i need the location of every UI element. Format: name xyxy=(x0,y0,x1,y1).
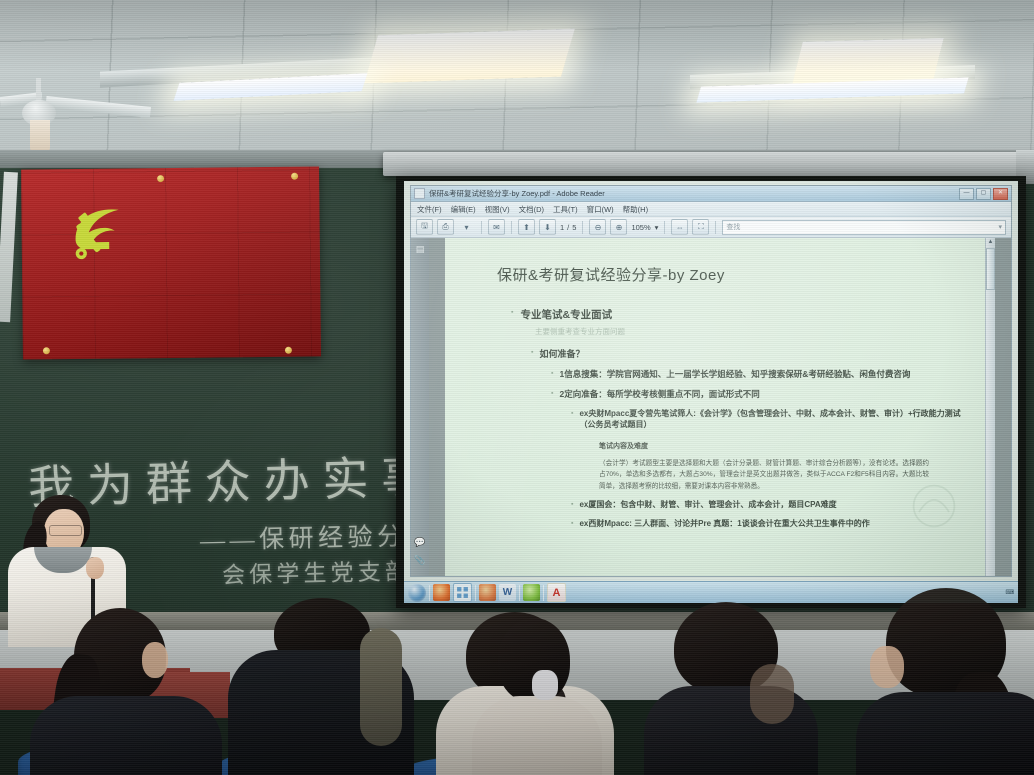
presenter-hand xyxy=(86,557,104,579)
explorer-icon[interactable] xyxy=(479,584,496,601)
slide-bullet-level3: ▪ 1信息搜集：学院官网通知、上一届学长学姐经验、知乎搜索保研&考研经验贴、闲鱼… xyxy=(551,368,965,380)
bullet-icon: ▪ xyxy=(511,307,513,322)
bullet-icon: ▪ xyxy=(571,518,573,530)
paragraph-body: （会计学）考试题型主要是选择题和大题（会计分录题、财管计算题、审计综合分析题等）… xyxy=(599,458,929,493)
toolbar-separator xyxy=(481,221,482,234)
menu-help[interactable]: 帮助(H) xyxy=(623,204,648,215)
toolbar-separator xyxy=(664,221,665,234)
scrollbar-thumb[interactable] xyxy=(986,248,995,290)
adobe-reader-taskbar-icon[interactable]: A xyxy=(547,583,566,602)
menu-edit[interactable]: 编辑(E) xyxy=(451,204,476,215)
document-area[interactable]: 保研&考研复试经验分享-by Zoey ▪ 专业笔试&专业面试 主要侧重考查专业… xyxy=(429,238,1011,576)
ceiling-shading xyxy=(0,0,1034,158)
menu-window[interactable]: 窗口(W) xyxy=(587,204,614,215)
bullet-icon: ▪ xyxy=(551,368,553,380)
current-page[interactable]: 1 xyxy=(560,223,564,232)
find-input[interactable]: 查找 ▾ xyxy=(722,220,1006,235)
slide-title: 保研&考研复试经验分享-by Zoey xyxy=(497,264,965,285)
hammer-and-sickle-icon xyxy=(65,198,136,269)
toolbar-separator xyxy=(715,221,716,234)
pages-thumbnail-icon[interactable]: ▤ xyxy=(414,243,426,255)
green-app-icon[interactable] xyxy=(523,584,540,601)
projector-screen-housing xyxy=(383,152,1034,176)
bullet-text: 专业笔试&专业面试 xyxy=(520,307,965,322)
email-icon[interactable]: ✉ xyxy=(488,219,505,235)
slide-bullet-level4: ▪ ex央财Mpacc夏令营先笔试筛人:《会计学》（包含管理会计、中财、成本会计… xyxy=(571,408,965,431)
taskbar-separator xyxy=(519,585,520,601)
party-flag xyxy=(21,166,321,359)
toolbar[interactable]: 🖫 ⎙ ▾ ✉ ⬆ ⬇ 1 / 5 ⊖ ⊕ 105% ▾ ⇔ xyxy=(411,217,1011,238)
total-pages: 5 xyxy=(572,223,576,232)
scroll-up-arrow-icon[interactable]: ▲ xyxy=(988,238,994,246)
print-icon[interactable]: ⎙ xyxy=(437,219,454,235)
slide-bullet-level3: ▪ 2定向准备：每所学校考核侧重点不同，面试形式不同 xyxy=(551,388,965,400)
adobe-reader-window[interactable]: 保研&考研复试经验分享-by Zoey.pdf - Adobe Reader —… xyxy=(410,185,1012,577)
student xyxy=(512,618,632,775)
student-face xyxy=(142,642,168,678)
comments-icon[interactable]: 💬 xyxy=(414,536,426,548)
slide-bullet-level1: ▪ 专业笔试&专业面试 xyxy=(511,307,965,322)
adobe-reader-icon xyxy=(414,188,425,199)
window-titlebar: 保研&考研复试经验分享-by Zoey.pdf - Adobe Reader —… xyxy=(411,186,1011,202)
bullet-icon: ▪ xyxy=(551,388,553,400)
vertical-scrollbar[interactable]: ▲ xyxy=(985,238,995,576)
flag-pin xyxy=(285,347,292,354)
flag-pin xyxy=(291,173,298,180)
face-mask xyxy=(532,670,558,700)
maximize-button[interactable]: ▢ xyxy=(976,188,991,200)
page-separator: / xyxy=(567,223,569,232)
paragraph-heading: 笔试内容及难度 xyxy=(599,441,965,451)
next-page-icon[interactable]: ⬇ xyxy=(539,219,556,235)
presenter-glasses xyxy=(49,525,82,536)
taskbar-separator xyxy=(543,585,544,601)
fit-page-icon[interactable]: ⛶ xyxy=(692,219,709,235)
save-icon[interactable]: 🖫 xyxy=(416,219,433,235)
window-body: ▤ 💬 📎 保研&考研复试经验分享-by Zoey ▪ 专业笔试&专业面试 主要… xyxy=(411,238,1011,576)
minimize-button[interactable]: — xyxy=(959,188,974,200)
bullet-text: ex央财Mpacc夏令营先笔试筛人:《会计学》（包含管理会计、中财、成本会计、财… xyxy=(579,408,965,431)
taskbar-separator xyxy=(475,585,476,601)
flag-pin xyxy=(157,175,164,182)
projection-screen: 保研&考研复试经验分享-by Zoey.pdf - Adobe Reader —… xyxy=(404,181,1018,603)
nav-pane-bottom: 💬 📎 xyxy=(414,536,426,576)
bullet-text: 如何准备？ xyxy=(539,347,965,360)
zoom-out-icon[interactable]: ⊖ xyxy=(589,219,606,235)
student-bag-strap xyxy=(360,628,402,746)
student xyxy=(30,608,220,775)
page-number-box[interactable]: 1 / 5 xyxy=(560,223,576,232)
bullet-icon: ▪ xyxy=(571,408,573,431)
ceiling xyxy=(0,0,1034,158)
attachments-icon[interactable]: 📎 xyxy=(414,554,426,566)
classroom-photo: 我为群众办实事 ——保研经验分享会 会保学生党支部 保研&考研复试经验分享-by… xyxy=(0,0,1034,775)
close-button[interactable]: ✕ xyxy=(993,188,1008,200)
student xyxy=(650,602,820,775)
student xyxy=(856,588,1034,775)
student-torso xyxy=(856,692,1034,775)
window-controls[interactable]: — ▢ ✕ xyxy=(959,188,1008,200)
menu-view[interactable]: 视图(V) xyxy=(485,204,510,215)
toolbar-separator xyxy=(511,221,512,234)
find-placeholder: 查找 xyxy=(726,222,740,232)
student-torso xyxy=(30,696,222,775)
pdf-page: 保研&考研复试经验分享-by Zoey ▪ 专业笔试&专业面试 主要侧重考查专业… xyxy=(445,238,985,576)
menu-tools[interactable]: 工具(T) xyxy=(553,204,578,215)
previous-page-icon[interactable]: ⬆ xyxy=(518,219,535,235)
student-torso xyxy=(472,696,602,775)
menu-file[interactable]: 文件(F) xyxy=(417,204,442,215)
bullet-icon: ▪ xyxy=(571,499,573,511)
bullet-text: 1信息搜集：学院官网通知、上一届学长学姐经验、知乎搜索保研&考研经验贴、闲鱼付费… xyxy=(559,368,965,380)
student-face xyxy=(870,646,904,688)
word-icon[interactable]: W xyxy=(499,584,516,601)
flag-pin xyxy=(43,347,50,354)
student xyxy=(228,598,418,775)
zoom-level[interactable]: 105% xyxy=(631,223,650,232)
zoom-dropdown-caret-icon[interactable]: ▾ xyxy=(655,223,659,232)
slide-bullet-level2: ▪ 如何准备？ xyxy=(531,347,965,360)
bullet-icon: ▪ xyxy=(531,347,533,360)
slide-note: 主要侧重考查专业方面问题 xyxy=(535,326,965,337)
toolbar-separator xyxy=(582,221,583,234)
chalk-org-line: 会保学生党支部 xyxy=(222,552,413,590)
student-scarf xyxy=(750,664,794,724)
navigation-pane[interactable]: ▤ 💬 📎 xyxy=(411,238,429,576)
window-tiles-icon[interactable] xyxy=(453,583,472,602)
menu-document[interactable]: 文档(D) xyxy=(519,204,544,215)
page-watermark xyxy=(899,476,969,536)
window-title: 保研&考研复试经验分享-by Zoey.pdf - Adobe Reader xyxy=(429,188,955,199)
menu-bar[interactable]: 文件(F) 编辑(E) 视图(V) 文档(D) 工具(T) 窗口(W) 帮助(H… xyxy=(411,202,1011,217)
firefox-icon[interactable] xyxy=(433,584,450,601)
find-dropdown-caret-icon[interactable]: ▾ xyxy=(998,223,1002,231)
zoom-in-icon[interactable]: ⊕ xyxy=(610,219,627,235)
taskbar-separator xyxy=(429,585,430,601)
dropdown-caret-icon[interactable]: ▾ xyxy=(458,219,475,235)
bullet-text: 2定向准备：每所学校考核侧重点不同，面试形式不同 xyxy=(559,388,965,400)
fit-width-icon[interactable]: ⇔ xyxy=(671,219,688,235)
